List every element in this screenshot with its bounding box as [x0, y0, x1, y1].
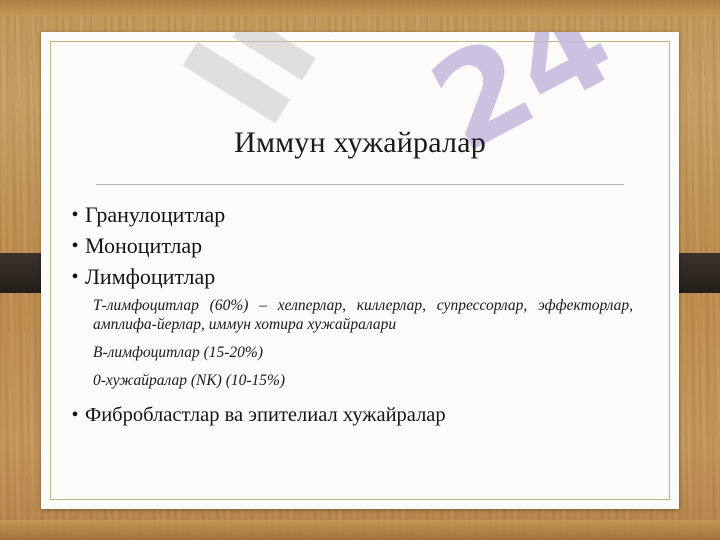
wood-edge-bottom [0, 520, 720, 540]
slide-background: Infomat 24 Иммун хужайралар • Гранулоцит… [0, 0, 720, 540]
list-item-label: Лимфоцитлар [85, 262, 215, 292]
list-item-label: Моноцитлар [85, 231, 202, 261]
list-item-label: Гранулоцитлар [85, 200, 225, 230]
wood-edge-top [0, 0, 720, 16]
bullet-list: • Гранулоцитлар • Моноцитлар • Лимфоцитл… [65, 200, 665, 431]
bullet-dot-icon: • [65, 400, 85, 430]
list-item: • Фибробластлар ва эпителиал хужайралар [65, 400, 665, 430]
list-item: • Лимфоцитлар [65, 262, 665, 292]
list-item-label: Фибробластлар ва эпителиал хужайралар [85, 400, 446, 430]
sub-paragraph-nk-cells: 0-хужайралар (NK) (10-15%) [93, 371, 633, 390]
bullet-dot-icon: • [65, 200, 85, 230]
bullet-dot-icon: • [65, 262, 85, 292]
list-item: • Моноцитлар [65, 231, 665, 261]
slide-content: Иммун хужайралар • Гранулоцитлар • Моноц… [41, 32, 679, 509]
title-divider [96, 184, 624, 185]
list-item: • Гранулоцитлар [65, 200, 665, 230]
sub-paragraph-b-lymphocytes: В-лимфоцитлар (15-20%) [93, 343, 633, 362]
slide-card: Infomat 24 Иммун хужайралар • Гранулоцит… [41, 32, 679, 509]
sub-paragraph-t-lymphocytes: Т-лимфоцитлар (60%) – хелперлар, киллерл… [93, 296, 633, 334]
bullet-dot-icon: • [65, 231, 85, 261]
slide-title: Иммун хужайралар [41, 126, 679, 160]
